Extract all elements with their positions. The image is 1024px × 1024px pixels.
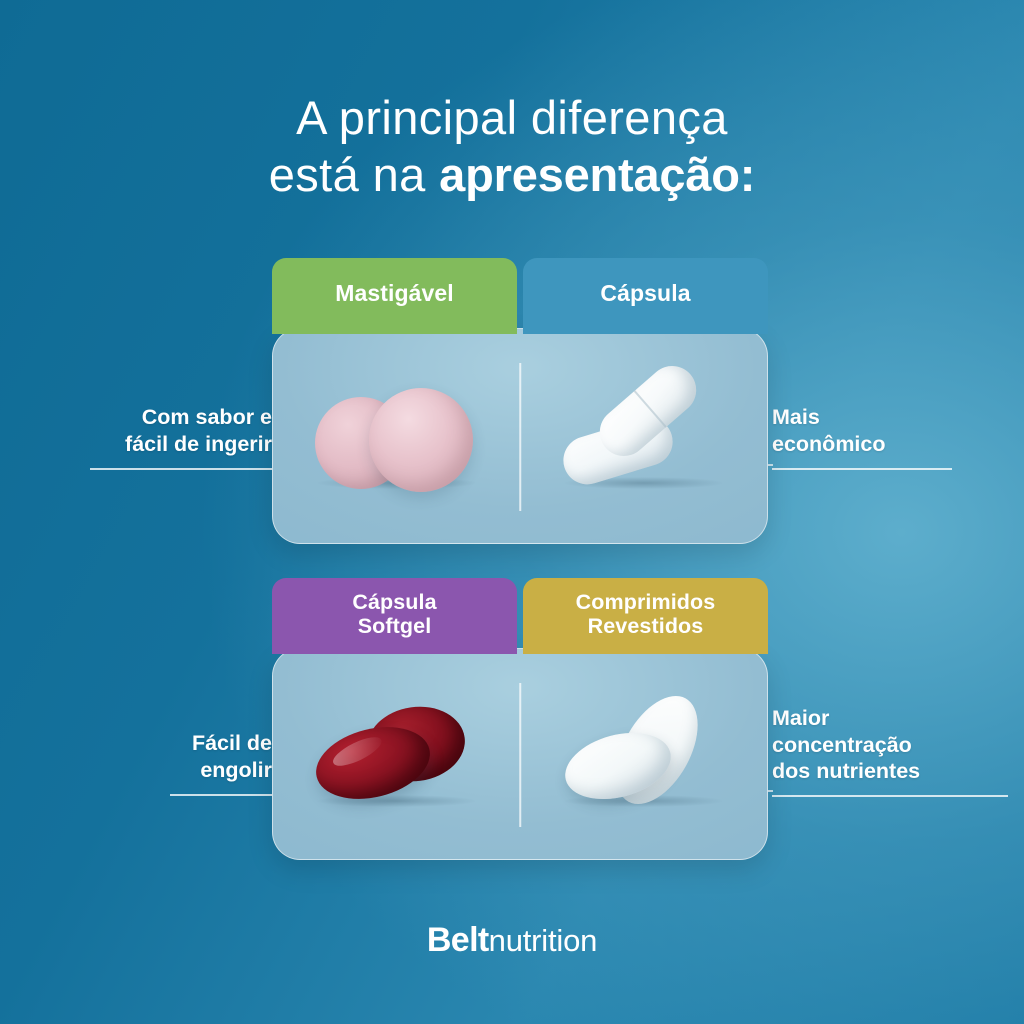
- title-line-2: está na apresentação:: [0, 149, 1024, 202]
- callout-capsula: Mais econômico: [772, 404, 1012, 457]
- coated-tablets-white-image: [556, 689, 731, 819]
- page-title: A principal diferença está na apresentaç…: [0, 92, 1024, 201]
- tab-mastigavel[interactable]: Mastigável: [272, 258, 517, 334]
- callout-comprimidos-text: Maior concentração dos nutrientes: [772, 705, 1022, 785]
- brand-logo-light: nutrition: [489, 923, 598, 958]
- capsules-white-image: [556, 371, 731, 501]
- tab-capsula-softgel[interactable]: Cápsula Softgel: [272, 578, 517, 654]
- callout-rule: [772, 795, 1008, 797]
- brand-logo-bold: Belt: [427, 921, 489, 959]
- tab-capsula[interactable]: Cápsula: [523, 258, 768, 334]
- comparison-block-1: Mastigável Cápsula: [272, 258, 768, 544]
- callout-softgel-text: Fácil de engolir: [40, 730, 272, 783]
- softgel-capsules-red-image: [309, 689, 484, 819]
- tab-group-2: Cápsula Softgel Comprimidos Revestidos: [272, 578, 768, 654]
- callout-rule: [90, 468, 272, 470]
- comparison-block-2: Cápsula Softgel Comprimidos Revestidos: [272, 578, 768, 860]
- product-cell-mastigavel: [273, 329, 520, 543]
- chewable-tablet-front: [369, 388, 473, 492]
- brand-logo: Beltnutrition: [0, 921, 1024, 960]
- title-line-1: A principal diferença: [0, 92, 1024, 145]
- tab-group-1: Mastigável Cápsula: [272, 258, 768, 334]
- callout-softgel: Fácil de engolir: [40, 730, 272, 783]
- tab-comprimidos-revestidos[interactable]: Comprimidos Revestidos: [523, 578, 768, 654]
- title-line-2-emphasis: apresentação:: [439, 148, 755, 201]
- product-cell-capsula: [520, 329, 767, 543]
- callout-comprimidos: Maior concentração dos nutrientes: [772, 705, 1022, 785]
- product-card-1: [272, 328, 768, 544]
- product-cell-softgel: [273, 649, 520, 859]
- product-card-2: [272, 648, 768, 860]
- callout-rule: [772, 468, 952, 470]
- callout-capsula-text: Mais econômico: [772, 404, 1012, 457]
- callout-rule: [170, 794, 272, 796]
- callout-mastigavel: Com sabor e fácil de ingerir: [40, 404, 272, 457]
- chewable-tablets-pink-image: [309, 371, 484, 501]
- product-cell-comprimidos: [520, 649, 767, 859]
- infographic-canvas: A principal diferença está na apresentaç…: [0, 0, 1024, 1024]
- callout-mastigavel-text: Com sabor e fácil de ingerir: [40, 404, 272, 457]
- title-line-2-prefix: está na: [269, 148, 439, 201]
